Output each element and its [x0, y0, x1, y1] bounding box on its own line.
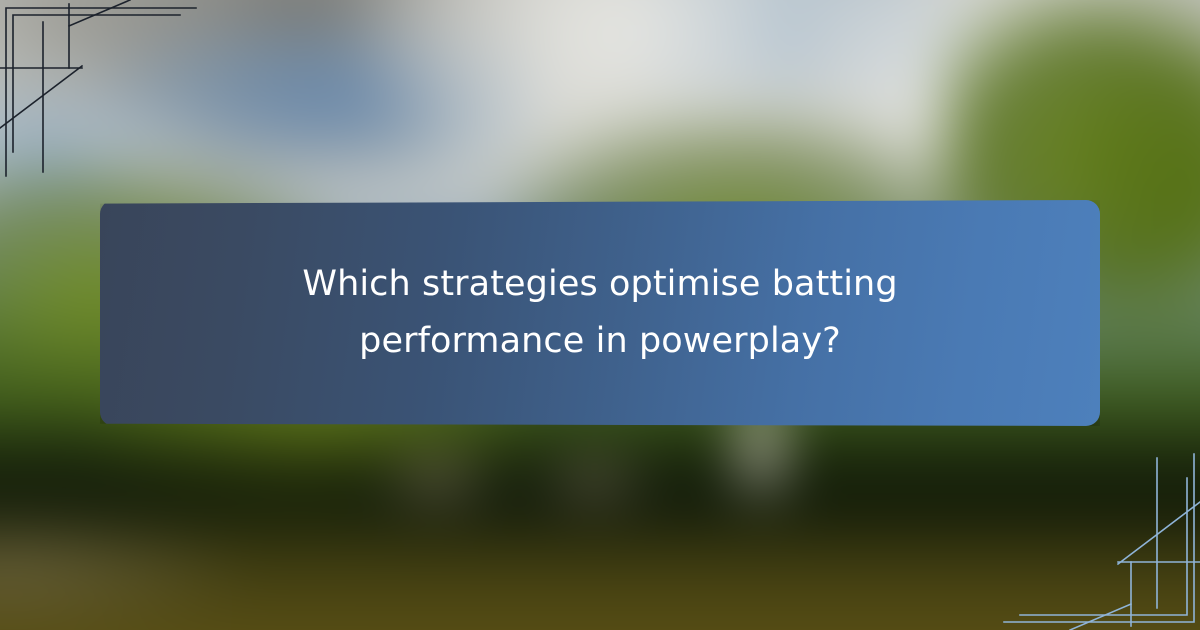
tree-canopy-far-right: [1088, 45, 1200, 363]
boat-highlight-left: [380, 453, 497, 506]
hero-question-card: Which strategies optimise batting perfor…: [0, 0, 1200, 630]
question-card: Which strategies optimise batting perfor…: [100, 200, 1100, 426]
question-text: Which strategies optimise batting perfor…: [260, 256, 940, 369]
boat-highlight-right: [536, 456, 653, 505]
river-bank-left: [0, 511, 240, 628]
